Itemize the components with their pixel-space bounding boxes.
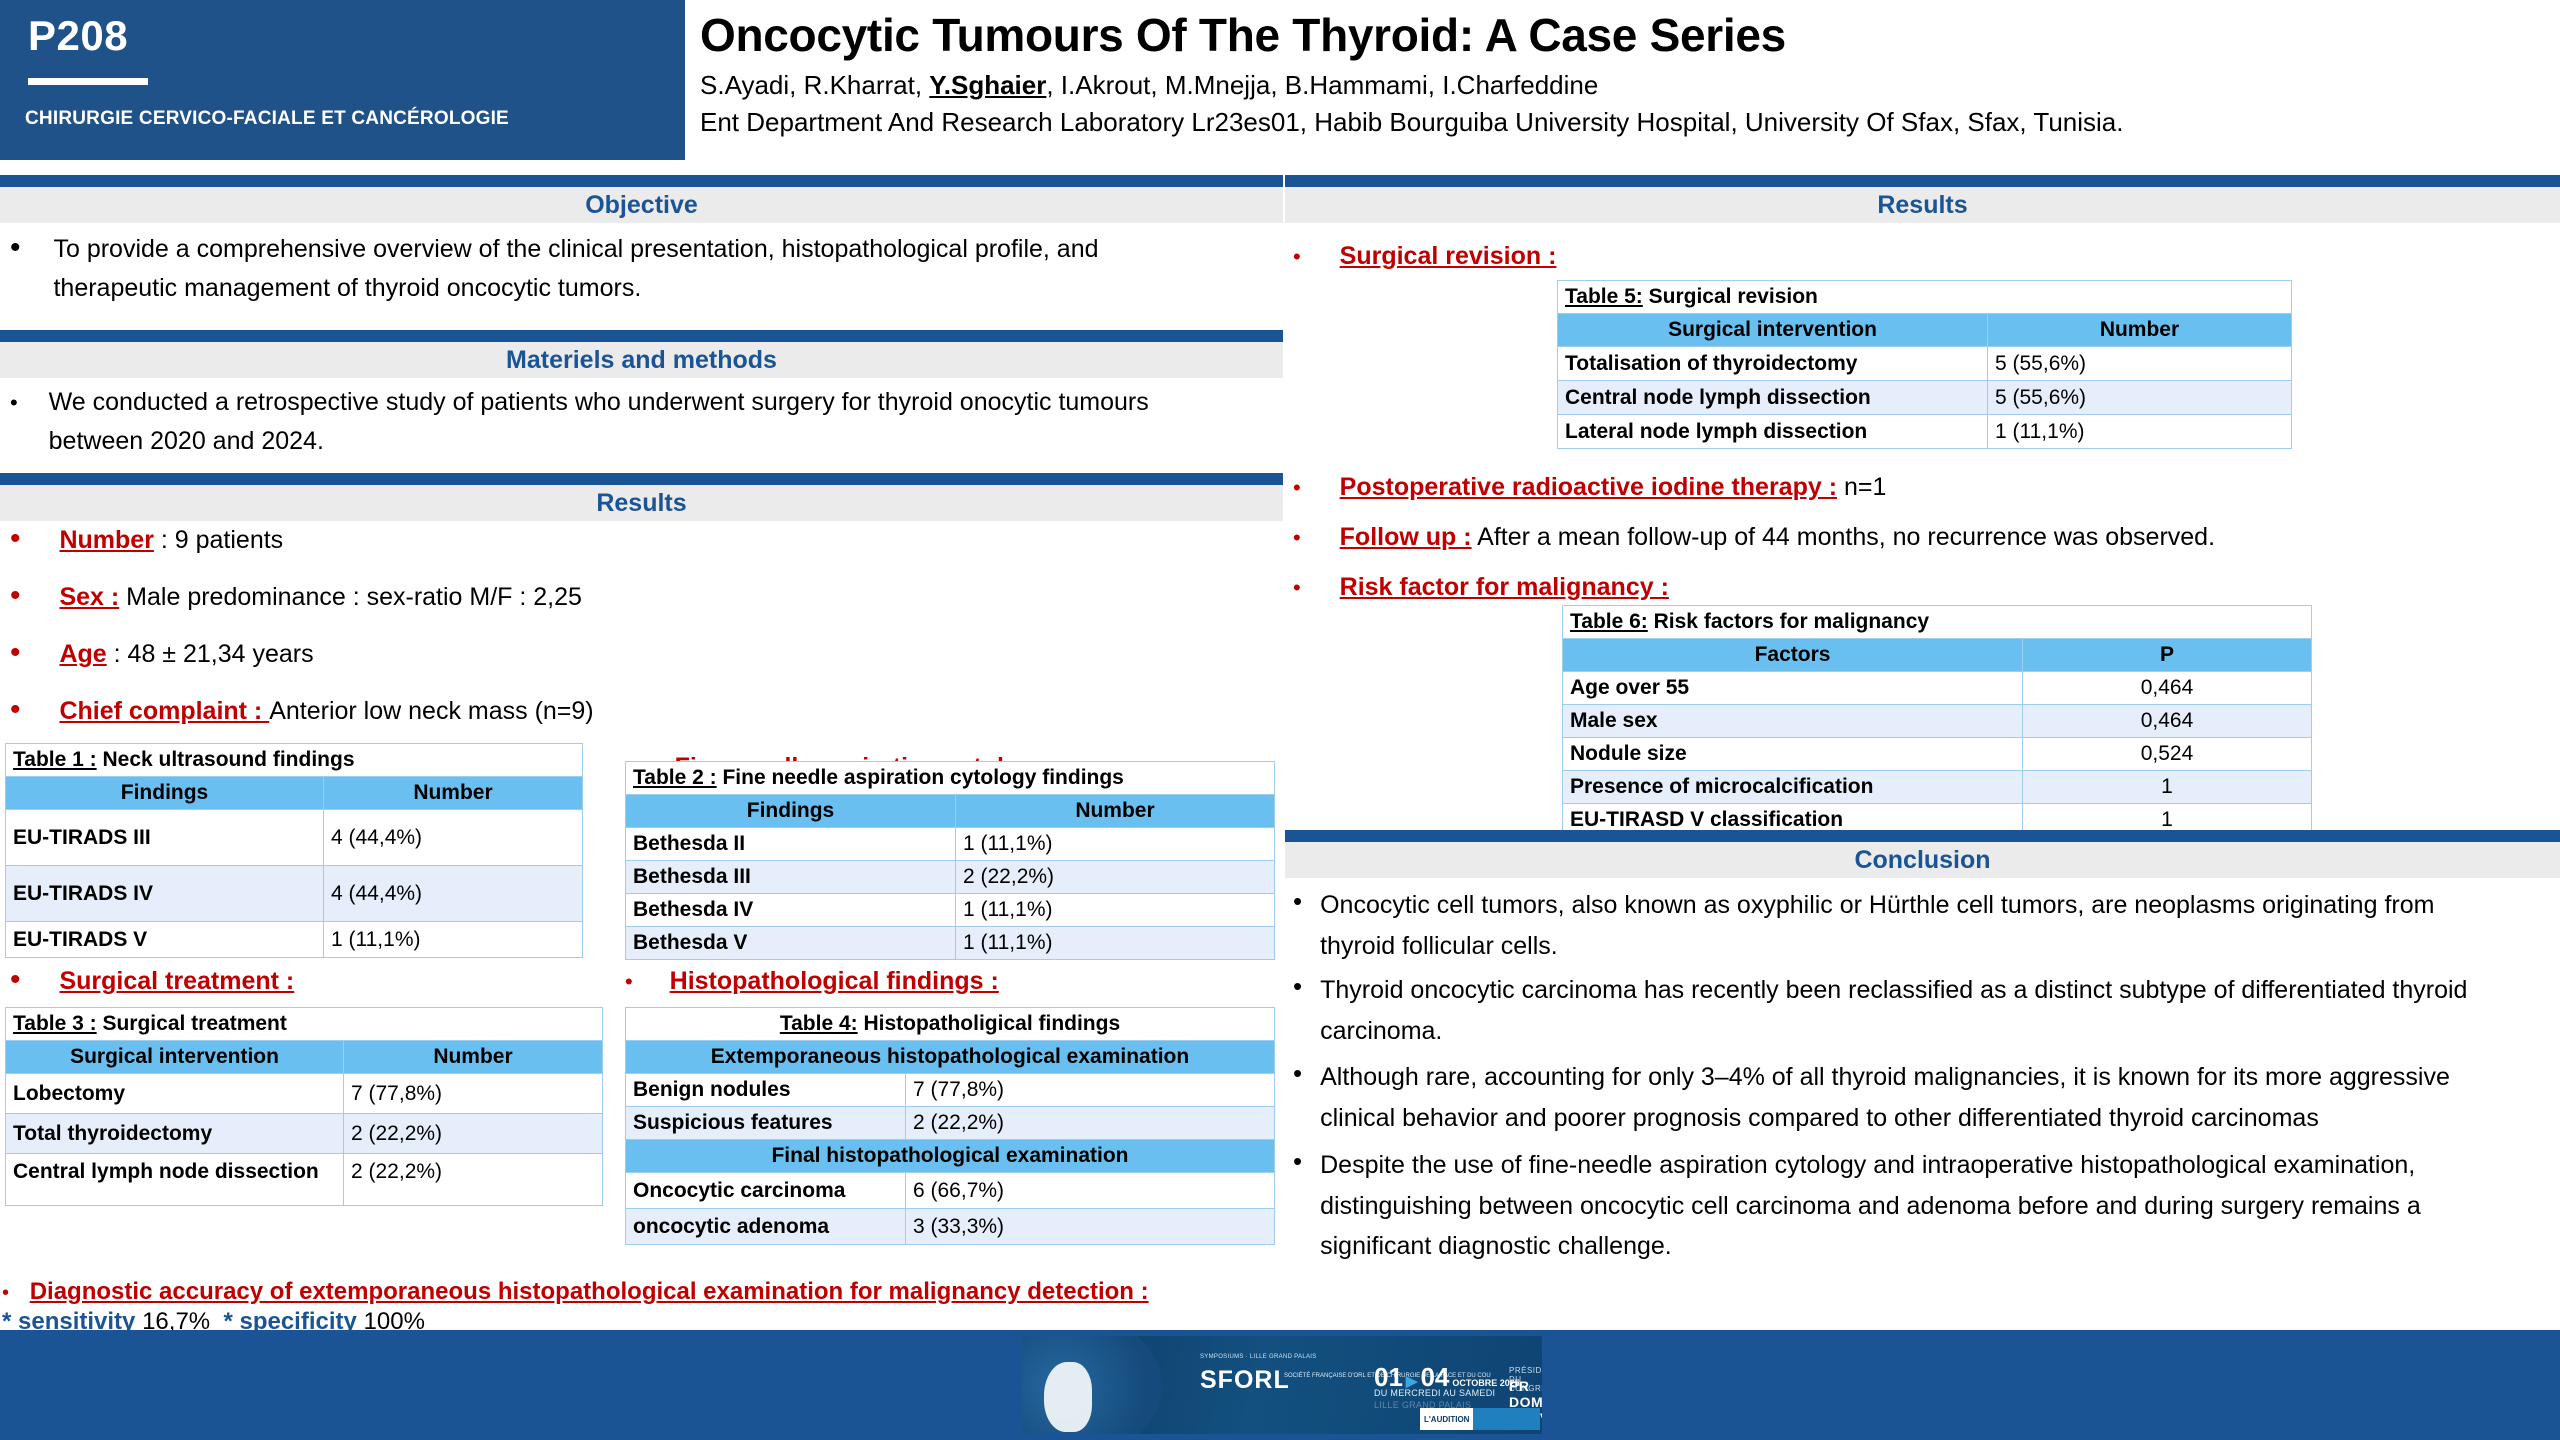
table4-g2r1c0: oncocytic adenoma xyxy=(626,1209,906,1245)
table-row: Bethesda IV 1 (11,1%) xyxy=(626,894,1275,927)
table2-r1c0: Bethesda III xyxy=(626,861,956,894)
table4-container: Table 4: Histopatholigical findings Exte… xyxy=(625,1007,1275,1245)
section-band: Conclusion xyxy=(1285,842,2560,878)
table-surgical-treatment: Table 3 : Surgical treatment Surgical in… xyxy=(5,1007,603,1206)
table-row: Benign nodules 7 (77,8%) xyxy=(626,1074,1275,1107)
table-caption-row: Table 1 : Neck ultrasound findings xyxy=(6,744,583,777)
section-title-results-left: Results xyxy=(596,489,686,518)
table-fnac-findings: Table 2 : Fine needle aspiration cytolog… xyxy=(625,761,1275,960)
table5-r0c1: 5 (55,6%) xyxy=(1988,347,2292,381)
bullet-dot-icon: • xyxy=(1293,1145,1302,1179)
table4-g1r0c0: Benign nodules xyxy=(626,1074,906,1107)
result-radioiodine-value: n=1 xyxy=(1837,473,1886,501)
table5-caption: Table 5: Surgical revision xyxy=(1558,281,2292,314)
right-column: Results • Surgical revision : Table 5: S… xyxy=(1285,185,2560,1325)
table3-r2c0: Central lymph node dissection xyxy=(6,1154,344,1206)
table2-col-findings: Findings xyxy=(626,795,956,828)
table-caption-row: Table 2 : Fine needle aspiration cytolog… xyxy=(626,762,1275,795)
table-row: Presence of microcalcification 1 xyxy=(1563,771,2312,804)
table1-r2c1: 1 (11,1%) xyxy=(324,922,583,958)
table-row: EU-TIRADS V 1 (11,1%) xyxy=(6,922,583,958)
table6-r3c0: Presence of microcalcification xyxy=(1563,771,2023,804)
result-radioiodine-row: • Postoperative radioactive iodine thera… xyxy=(1293,468,1886,507)
table-row: Lobectomy 7 (77,8%) xyxy=(6,1074,603,1114)
bullet-dot-icon: • xyxy=(1293,1057,1302,1091)
badge-subtitle: CHIRURGIE CERVICO-FACIALE ET CANCÉROLOGI… xyxy=(25,108,665,130)
table4-g1r1c1: 2 (22,2%) xyxy=(906,1107,1275,1140)
result-followup-label: Follow up : xyxy=(1340,523,1472,551)
banner-days: DU MERCREDI AU SAMEDI xyxy=(1374,1388,1495,1398)
section-bar-conclusion: Conclusion xyxy=(1285,830,2560,878)
table4-g2r1c1: 3 (33,3%) xyxy=(906,1209,1275,1245)
table3-r1c1: 2 (22,2%) xyxy=(344,1114,603,1154)
table3-caption-tag: Table 3 : xyxy=(13,1012,97,1035)
table-row: Total thyroidectomy 2 (22,2%) xyxy=(6,1114,603,1154)
table6-caption-tag: Table 6: xyxy=(1570,610,1648,633)
table3-col-intervention: Surgical intervention xyxy=(6,1041,344,1074)
result-age-row: • Age : 48 ± 21,34 years xyxy=(10,635,314,674)
authors-before: S.Ayadi, R.Kharrat, xyxy=(700,70,929,100)
result-number-value: : 9 patients xyxy=(154,526,283,554)
authors-after: , I.Akrout, M.Mnejja, B.Hammami, I.Charf… xyxy=(1046,70,1598,100)
section-stripe xyxy=(0,175,1283,187)
table-risk-factors: Table 6: Risk factors for malignancy Fac… xyxy=(1562,605,2312,837)
table-group-header-row: Extemporaneous histopathological examina… xyxy=(626,1041,1275,1074)
table1-col-number: Number xyxy=(324,777,583,810)
page-title: Oncocytic Tumours Of The Thyroid: A Case… xyxy=(700,8,1786,62)
section-bar-results-left: Results xyxy=(0,473,1283,521)
section-title-materials: Materiels and methods xyxy=(506,346,777,375)
table-header-row: Factors P xyxy=(1563,639,2312,672)
poster-number-badge: P208 CHIRURGIE CERVICO-FACIALE ET CANCÉR… xyxy=(0,0,685,160)
table6-r2c1: 0,524 xyxy=(2023,738,2312,771)
poster-footer: SYMPOSIUMS · LILLE GRAND PALAIS SFORL SO… xyxy=(0,1330,2560,1440)
table3-container: Table 3 : Surgical treatment Surgical in… xyxy=(5,1007,603,1206)
section-stripe xyxy=(0,473,1283,485)
result-number-row: • Number : 9 patients xyxy=(10,521,283,560)
table-caption-row: Table 6: Risk factors for malignancy xyxy=(1563,606,2312,639)
result-followup-value: After a mean follow-up of 44 months, no … xyxy=(1472,523,2215,551)
table-row: Bethesda V 1 (11,1%) xyxy=(626,927,1275,960)
result-riskfactor-row: • Risk factor for malignancy : xyxy=(1293,568,1669,607)
section-bar-materials: Materiels and methods xyxy=(0,330,1283,378)
banner-chip1-tail xyxy=(1473,1408,1540,1430)
table-caption-row: Table 4: Histopatholigical findings xyxy=(626,1008,1275,1041)
table-row: Lateral node lymph dissection 1 (11,1%) xyxy=(1558,415,2292,449)
table-histopathological-findings: Table 4: Histopatholigical findings Exte… xyxy=(625,1007,1275,1245)
table2-r0c1: 1 (11,1%) xyxy=(956,828,1275,861)
result-age-value: : 48 ± 21,34 years xyxy=(107,640,314,668)
table-header-row: Findings Number xyxy=(6,777,583,810)
header-main: Oncocytic Tumours Of The Thyroid: A Case… xyxy=(700,0,2550,160)
result-followup-row: • Follow up : After a mean follow-up of … xyxy=(1293,518,2215,557)
diagnostic-accuracy-label: Diagnostic accuracy of extemporaneous hi… xyxy=(30,1278,1149,1305)
section-stripe xyxy=(1285,175,2560,187)
table-row: Bethesda II 1 (11,1%) xyxy=(626,828,1275,861)
table5-container: Table 5: Surgical revision Surgical inte… xyxy=(1557,280,2292,449)
bullet-dot-icon: • xyxy=(10,636,21,669)
bullet-dot-icon: • xyxy=(1293,244,1301,269)
table-row: EU-TIRADS III 4 (44,4%) xyxy=(6,810,583,866)
result-chief-complaint-row: • Chief complaint : Anterior low neck ma… xyxy=(10,692,594,731)
conclusion-item: • Although rare, accounting for only 3–4… xyxy=(1293,1057,2543,1138)
bullet-dot-icon: • xyxy=(10,390,18,415)
banner-circle-decor xyxy=(1022,1336,1162,1434)
table1-col-findings: Findings xyxy=(6,777,324,810)
table2-col-number: Number xyxy=(956,795,1275,828)
table1-r1c0: EU-TIRADS IV xyxy=(6,866,324,922)
table1-caption-text: Neck ultrasound findings xyxy=(97,748,355,771)
table2-r2c1: 1 (11,1%) xyxy=(956,894,1275,927)
table-caption-row: Table 5: Surgical revision xyxy=(1558,281,2292,314)
bullet-dot-icon: • xyxy=(1293,475,1301,500)
author-list: S.Ayadi, R.Kharrat, Y.Sghaier, I.Akrout,… xyxy=(700,70,1598,101)
table3-r0c0: Lobectomy xyxy=(6,1074,344,1114)
table2-r1c1: 2 (22,2%) xyxy=(956,861,1275,894)
table3-caption-text: Surgical treatment xyxy=(97,1012,287,1035)
left-column: Objective • To provide a comprehensive o… xyxy=(0,185,1283,1325)
table-header-row: Surgical intervention Number xyxy=(1558,314,2292,347)
section-bar-objective: Objective xyxy=(0,175,1283,223)
banner-brand: SFORL xyxy=(1200,1366,1290,1395)
table-surgical-revision: Table 5: Surgical revision Surgical inte… xyxy=(1557,280,2292,449)
materials-text: We conducted a retrospective study of pa… xyxy=(29,383,1229,461)
table-row: Oncocytic carcinoma 6 (66,7%) xyxy=(626,1173,1275,1209)
table4-g1r1c0: Suspicious features xyxy=(626,1107,906,1140)
banner-chip-audition: L'AUDITION xyxy=(1420,1408,1540,1430)
result-histopath-label: Histopathological findings : xyxy=(670,967,999,995)
table2-caption-text: Fine needle aspiration cytology findings xyxy=(717,766,1124,789)
table2-container: Table 2 : Fine needle aspiration cytolog… xyxy=(625,761,1275,960)
table5-caption-tag: Table 5: xyxy=(1565,285,1643,308)
bullet-dot-icon: • xyxy=(10,963,21,996)
banner-brand-top: SYMPOSIUMS · LILLE GRAND PALAIS xyxy=(1200,1354,1317,1360)
table1-caption-tag: Table 1 : xyxy=(13,748,97,771)
table-group-header-row: Final histopathological examination xyxy=(626,1140,1275,1173)
affiliation: Ent Department And Research Laboratory L… xyxy=(700,107,2123,138)
section-band: Results xyxy=(1285,187,2560,223)
table3-col-number: Number xyxy=(344,1041,603,1074)
result-number-label: Number xyxy=(59,526,153,554)
table6-caption: Table 6: Risk factors for malignancy xyxy=(1563,606,2312,639)
table5-r1c0: Central node lymph dissection xyxy=(1558,381,1988,415)
table5-r1c1: 5 (55,6%) xyxy=(1988,381,2292,415)
table1-r0c1: 4 (44,4%) xyxy=(324,810,583,866)
presenting-author: Y.Sghaier xyxy=(929,70,1046,100)
table-row: Totalisation of thyroidectomy 5 (55,6%) xyxy=(1558,347,2292,381)
table4-g2r0c0: Oncocytic carcinoma xyxy=(626,1173,906,1209)
table3-r0c1: 7 (77,8%) xyxy=(344,1074,603,1114)
table4-caption-text: Histopatholigical findings xyxy=(858,1012,1121,1035)
result-age-label: Age xyxy=(59,640,106,668)
section-title-objective: Objective xyxy=(585,191,698,220)
result-sex-row: • Sex : Male predominance : sex-ratio M/… xyxy=(10,578,582,617)
table3-r1c0: Total thyroidectomy xyxy=(6,1114,344,1154)
table4-caption: Table 4: Histopatholigical findings xyxy=(626,1008,1275,1041)
table-row: Central node lymph dissection 5 (55,6%) xyxy=(1558,381,2292,415)
table2-r3c1: 1 (11,1%) xyxy=(956,927,1275,960)
bullet-dot-icon: • xyxy=(10,231,21,264)
poster-header: P208 CHIRURGIE CERVICO-FACIALE ET CANCÉR… xyxy=(0,0,2560,160)
table1-r1c1: 4 (44,4%) xyxy=(324,866,583,922)
badge-divider xyxy=(28,78,148,85)
section-band: Results xyxy=(0,485,1283,521)
bullet-dot-icon: • xyxy=(2,1282,9,1304)
bullet-dot-icon: • xyxy=(625,969,633,994)
bullet-dot-icon: • xyxy=(10,522,21,555)
table2-r0c0: Bethesda II xyxy=(626,828,956,861)
section-band: Materiels and methods xyxy=(0,342,1283,378)
table3-r2c1: 2 (22,2%) xyxy=(344,1154,603,1206)
table4-caption-tag: Table 4: xyxy=(780,1012,858,1035)
conclusion-text: Oncocytic cell tumors, also known as oxy… xyxy=(1320,885,2510,966)
table6-r0c1: 0,464 xyxy=(2023,672,2312,705)
table-row: Age over 55 0,464 xyxy=(1563,672,2312,705)
table2-r3c0: Bethesda V xyxy=(626,927,956,960)
result-surgical-treatment-label: Surgical treatment : xyxy=(59,967,294,995)
result-riskfactor-label: Risk factor for malignancy : xyxy=(1340,573,1669,601)
table-neck-ultrasound: Table 1 : Neck ultrasound findings Findi… xyxy=(5,743,583,958)
result-histopath-row: • Histopathological findings : xyxy=(625,962,999,1001)
section-stripe xyxy=(0,330,1283,342)
bullet-dot-icon: • xyxy=(1293,970,1302,1004)
table6-r0c0: Age over 55 xyxy=(1563,672,2023,705)
table-row: Bethesda III 2 (22,2%) xyxy=(626,861,1275,894)
result-radioiodine-label: Postoperative radioactive iodine therapy… xyxy=(1340,473,1837,501)
bullet-dot-icon: • xyxy=(10,579,21,612)
table1-r0c0: EU-TIRADS III xyxy=(6,810,324,866)
conclusion-item: • Thyroid oncocytic carcinoma has recent… xyxy=(1293,970,2543,1051)
conclusion-item: • Oncocytic cell tumors, also known as o… xyxy=(1293,885,2543,966)
result-surgical-revision-label: Surgical revision : xyxy=(1340,242,1557,270)
table6-col-factors: Factors xyxy=(1563,639,2023,672)
table-caption-row: Table 3 : Surgical treatment xyxy=(6,1008,603,1041)
section-title-results-right: Results xyxy=(1877,191,1967,220)
table1-r2c0: EU-TIRADS V xyxy=(6,922,324,958)
section-title-conclusion: Conclusion xyxy=(1854,846,1990,875)
table6-r1c0: Male sex xyxy=(1563,705,2023,738)
table-row: oncocytic adenoma 3 (33,3%) xyxy=(626,1209,1275,1245)
table1-container: Table 1 : Neck ultrasound findings Findi… xyxy=(5,743,583,958)
table6-caption-text: Risk factors for malignancy xyxy=(1648,610,1929,633)
table6-r1c1: 0,464 xyxy=(2023,705,2312,738)
banner-face-icon xyxy=(1044,1362,1092,1432)
table5-r0c0: Totalisation of thyroidectomy xyxy=(1558,347,1988,381)
table5-r2c0: Lateral node lymph dissection xyxy=(1558,415,1988,449)
table5-col-number: Number xyxy=(1988,314,2292,347)
result-chief-value: Anterior low neck mass (n=9) xyxy=(269,697,593,725)
table6-container: Table 6: Risk factors for malignancy Fac… xyxy=(1562,605,2312,837)
section-bar-results-right: Results xyxy=(1285,175,2560,223)
table-row: Male sex 0,464 xyxy=(1563,705,2312,738)
table4-group1-header: Extemporaneous histopathological examina… xyxy=(626,1041,1275,1074)
table-header-row: Surgical intervention Number xyxy=(6,1041,603,1074)
table2-r2c0: Bethesda IV xyxy=(626,894,956,927)
table3-caption: Table 3 : Surgical treatment xyxy=(6,1008,603,1041)
section-band: Objective xyxy=(0,187,1283,223)
bullet-dot-icon: • xyxy=(1293,575,1301,600)
result-surgical-treatment-row: • Surgical treatment : xyxy=(10,962,294,1001)
table6-col-p: P xyxy=(2023,639,2312,672)
table1-caption: Table 1 : Neck ultrasound findings xyxy=(6,744,583,777)
table-row: EU-TIRADS IV 4 (44,4%) xyxy=(6,866,583,922)
result-sex-label: Sex : xyxy=(59,583,119,611)
poster-root: P208 CHIRURGIE CERVICO-FACIALE ET CANCÉR… xyxy=(0,0,2560,1440)
table5-caption-text: Surgical revision xyxy=(1643,285,1818,308)
materials-bullet: • We conducted a retrospective study of … xyxy=(10,383,1260,461)
conclusion-text: Thyroid oncocytic carcinoma has recently… xyxy=(1320,970,2510,1051)
table-header-row: Findings Number xyxy=(626,795,1275,828)
table4-g1r0c1: 7 (77,8%) xyxy=(906,1074,1275,1107)
bullet-dot-icon: • xyxy=(1293,525,1301,550)
result-chief-label: Chief complaint : xyxy=(59,697,269,725)
conclusion-text: Despite the use of fine-needle aspiratio… xyxy=(1320,1145,2510,1267)
objective-bullet: • To provide a comprehensive overview of… xyxy=(10,230,1240,308)
table4-group2-header: Final histopathological examination xyxy=(626,1140,1275,1173)
bullet-dot-icon: • xyxy=(1293,885,1302,919)
conclusion-item: • Despite the use of fine-needle aspirat… xyxy=(1293,1145,2543,1267)
table-row: Central lymph node dissection 2 (22,2%) xyxy=(6,1154,603,1206)
table4-g2r0c1: 6 (66,7%) xyxy=(906,1173,1275,1209)
conclusion-text: Although rare, accounting for only 3–4% … xyxy=(1320,1057,2510,1138)
section-stripe xyxy=(1285,830,2560,842)
table-row: Suspicious features 2 (22,2%) xyxy=(626,1107,1275,1140)
objective-text: To provide a comprehensive overview of t… xyxy=(31,230,1211,308)
table2-caption-tag: Table 2 : xyxy=(633,766,717,789)
congress-banner: SYMPOSIUMS · LILLE GRAND PALAIS SFORL SO… xyxy=(1022,1336,1542,1434)
table6-r2c0: Nodule size xyxy=(1563,738,2023,771)
table-row: Nodule size 0,524 xyxy=(1563,738,2312,771)
table2-caption: Table 2 : Fine needle aspiration cytolog… xyxy=(626,762,1275,795)
poster-number: P208 xyxy=(28,12,128,60)
table5-r2c1: 1 (11,1%) xyxy=(1988,415,2292,449)
bullet-dot-icon: • xyxy=(10,693,21,726)
result-surgical-revision-row: • Surgical revision : xyxy=(1293,237,1556,276)
table5-col-intervention: Surgical intervention xyxy=(1558,314,1988,347)
result-sex-value: Male predominance : sex-ratio M/F : 2,25 xyxy=(119,583,582,611)
banner-chip1-label: L'AUDITION xyxy=(1420,1415,1473,1424)
table6-r3c1: 1 xyxy=(2023,771,2312,804)
